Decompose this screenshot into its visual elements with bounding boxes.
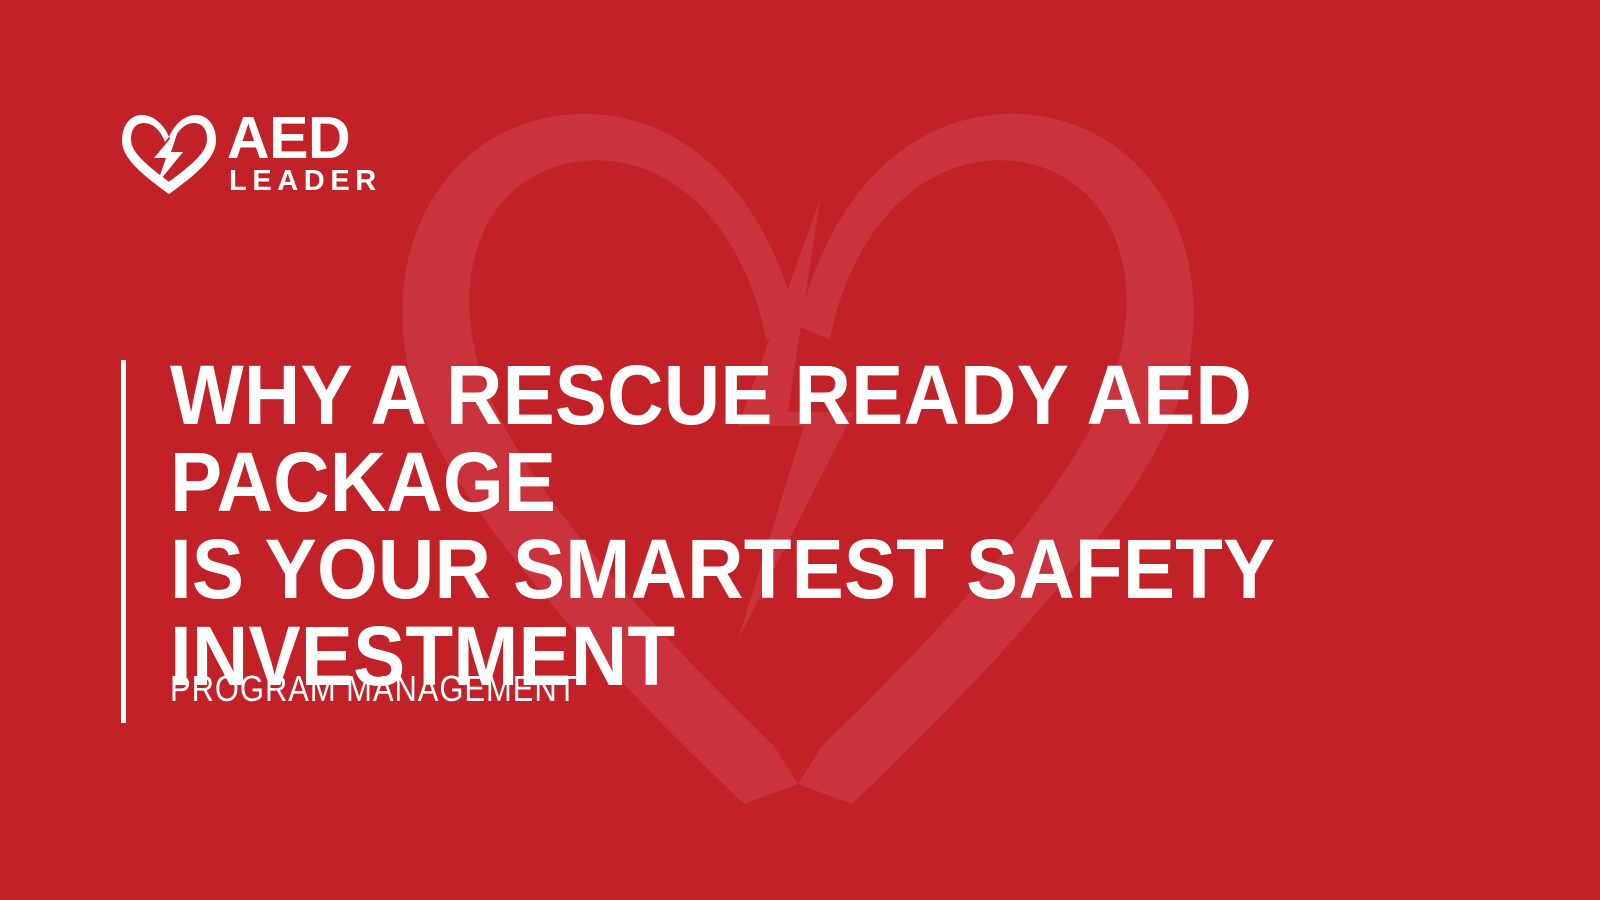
- heart-with-lightning-bolt-icon: [121, 111, 217, 197]
- category-label: PROGRAM MANAGEMENT: [170, 669, 577, 709]
- brand-name-primary: AED: [227, 114, 382, 164]
- brand-logo[interactable]: AED LEADER: [121, 111, 382, 197]
- page-title: WHY A RESCUE READY AED PACKAGE IS YOUR S…: [170, 352, 1407, 700]
- brand-name-secondary: LEADER: [229, 167, 382, 196]
- hero-text-block: WHY A RESCUE READY AED PACKAGE IS YOUR S…: [170, 352, 1500, 700]
- hero-banner: AED LEADER WHY A RESCUE READY AED PACKAG…: [0, 0, 1600, 900]
- accent-rule: [121, 360, 126, 723]
- brand-wordmark: AED LEADER: [227, 114, 382, 196]
